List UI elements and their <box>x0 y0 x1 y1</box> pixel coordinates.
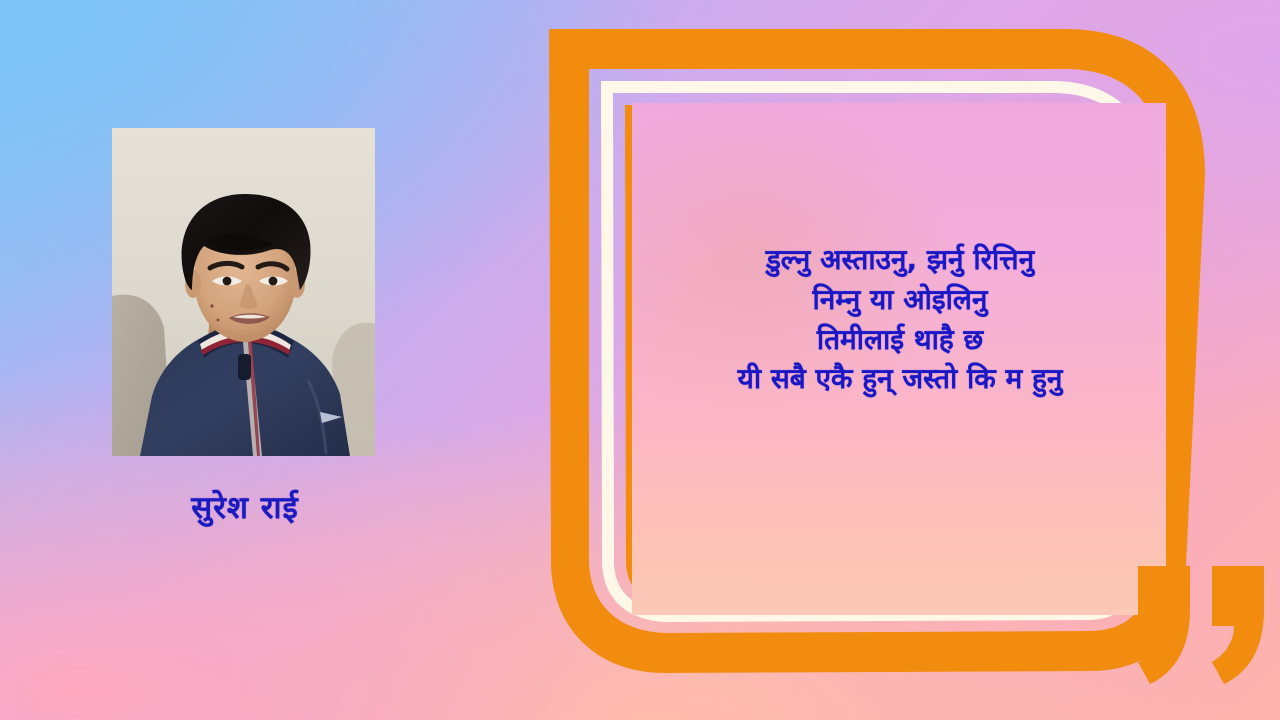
quote-line-4: यी सबै एकै हुन् जस्तो कि म हुनु <box>640 359 1160 399</box>
portrait-card <box>112 128 375 456</box>
quote-text-block: डुल्नु अस्ताउनु, झर्नु रित्तिनु निम्नु य… <box>640 240 1160 399</box>
portrait-name-label: सुरेश राई <box>60 486 430 528</box>
quote-line-3: तिमीलाई थाहै छ <box>640 320 1160 360</box>
quote-poster: सुरेश राई डुल्नु अस्ताउनु, झर्नु रित्तिन… <box>0 0 1280 720</box>
quote-line-2: निम्नु या ओइलिनु <box>640 280 1160 320</box>
portrait-photo <box>112 128 375 456</box>
quote-line-1: डुल्नु अस्ताउनु, झर्नु रित्तिनु <box>640 240 1160 280</box>
closing-quote-icon <box>1134 562 1274 692</box>
